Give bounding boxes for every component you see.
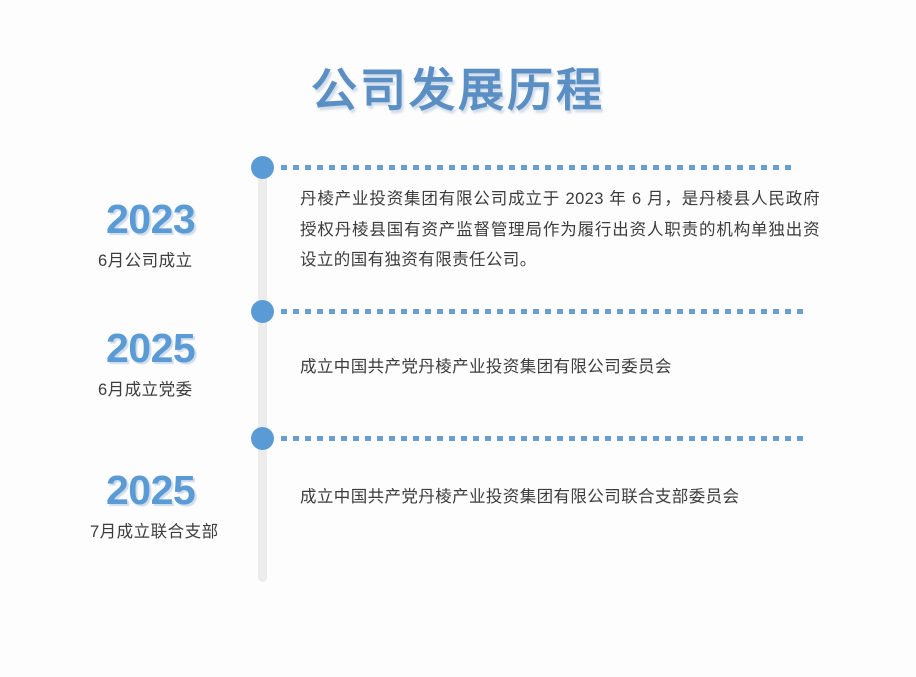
timeline-caption: 7月成立联合支部 [48, 521, 244, 544]
timeline-year: 2023 [48, 198, 244, 241]
timeline-caption: 6月成立党委 [48, 379, 244, 402]
timeline-dot-icon [251, 427, 274, 450]
timeline-body-text: 成立中国共产党丹棱产业投资集团有限公司联合支部委员会 [300, 482, 820, 513]
timeline-year: 2025 [48, 327, 244, 370]
timeline-body-text: 丹棱产业投资集团有限公司成立于 2023 年 6 月，是丹棱县人民政府授权丹棱县… [300, 184, 820, 276]
timeline-dot-icon [251, 300, 274, 323]
timeline-spine [258, 168, 267, 582]
timeline-dashed-connector [281, 436, 806, 441]
timeline-entry-label-group: 2025 6月成立党委 [48, 327, 244, 402]
page-title: 公司发展历程 [0, 62, 916, 120]
timeline-dashed-connector [281, 309, 808, 314]
timeline-entry-label-group: 2023 6月公司成立 [48, 198, 244, 273]
timeline-body-text: 成立中国共产党丹棱产业投资集团有限公司委员会 [300, 352, 820, 383]
timeline-entry-label-group: 2025 7月成立联合支部 [48, 469, 244, 544]
slide-canvas: 公司发展历程 2023 6月公司成立 丹棱产业投资集团有限公司成立于 2023 … [0, 0, 916, 677]
timeline-caption: 6月公司成立 [48, 250, 244, 273]
timeline-year: 2025 [48, 469, 244, 512]
timeline-dot-icon [251, 156, 274, 179]
timeline-dashed-connector [281, 165, 797, 170]
